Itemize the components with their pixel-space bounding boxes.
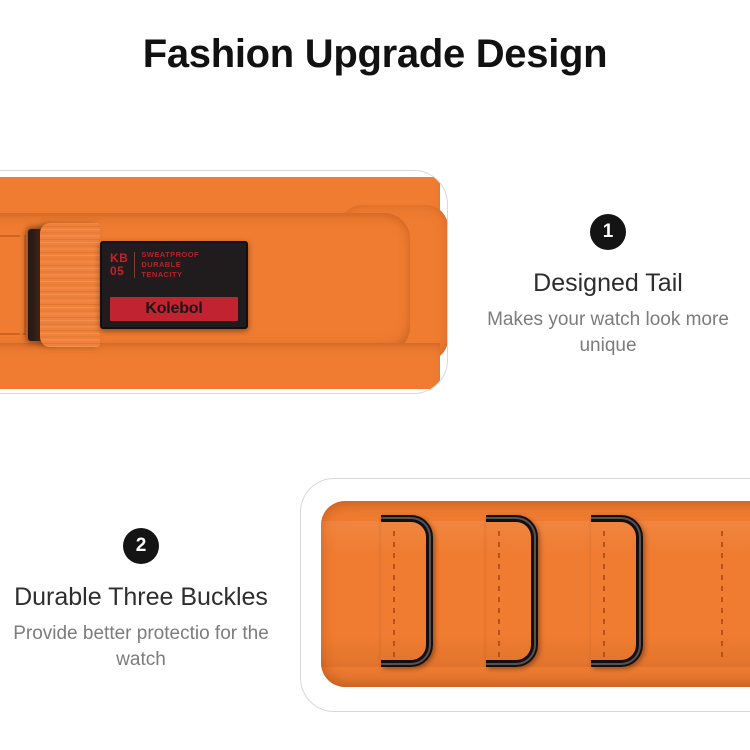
woven-brand-label: KB 05 SWEATPROOF DURABLE TENACITY Kolebo… <box>100 241 248 329</box>
buckle-keeper-1 <box>381 515 433 667</box>
buckle-keeper-2 <box>486 515 538 667</box>
callout-title-2: Durable Three Buckles <box>0 582 282 613</box>
crosshatch-stitching <box>0 235 26 335</box>
page-title: Fashion Upgrade Design <box>0 30 750 78</box>
callout-badge-1: 1 <box>590 214 626 250</box>
strap-fold-edge <box>40 223 100 347</box>
callout-title-1: Designed Tail <box>466 268 750 299</box>
strap-lower-band <box>0 343 440 389</box>
label-feature-1: SWEATPROOF <box>141 250 199 260</box>
stitch-line-7 <box>721 531 723 659</box>
label-brand-band: Kolebol <box>110 297 238 321</box>
label-product-code: KB 05 <box>110 252 135 278</box>
callout-description-2: Provide better protectio for the watch <box>0 621 282 672</box>
label-code-line-1: KB <box>110 252 128 265</box>
callout-durable-three-buckles: 2 Durable Three Buckles Provide better p… <box>0 528 282 673</box>
label-top-row: KB 05 SWEATPROOF DURABLE TENACITY <box>110 250 238 280</box>
brand-name: Kolebol <box>145 301 202 317</box>
label-feature-list: SWEATPROOF DURABLE TENACITY <box>141 250 199 280</box>
label-code-line-2: 05 <box>110 265 128 278</box>
callout-badge-2: 2 <box>123 528 159 564</box>
product-photo-card-designed-tail: KB 05 SWEATPROOF DURABLE TENACITY Kolebo… <box>0 170 448 394</box>
label-feature-2: DURABLE <box>141 260 199 270</box>
callout-designed-tail: 1 Designed Tail Makes your watch look mo… <box>466 214 750 359</box>
callout-description-1: Makes your watch look more unique <box>466 307 750 358</box>
product-photo-card-three-buckles <box>300 478 750 712</box>
buckle-keeper-3 <box>591 515 643 667</box>
label-feature-3: TENACITY <box>141 270 199 280</box>
